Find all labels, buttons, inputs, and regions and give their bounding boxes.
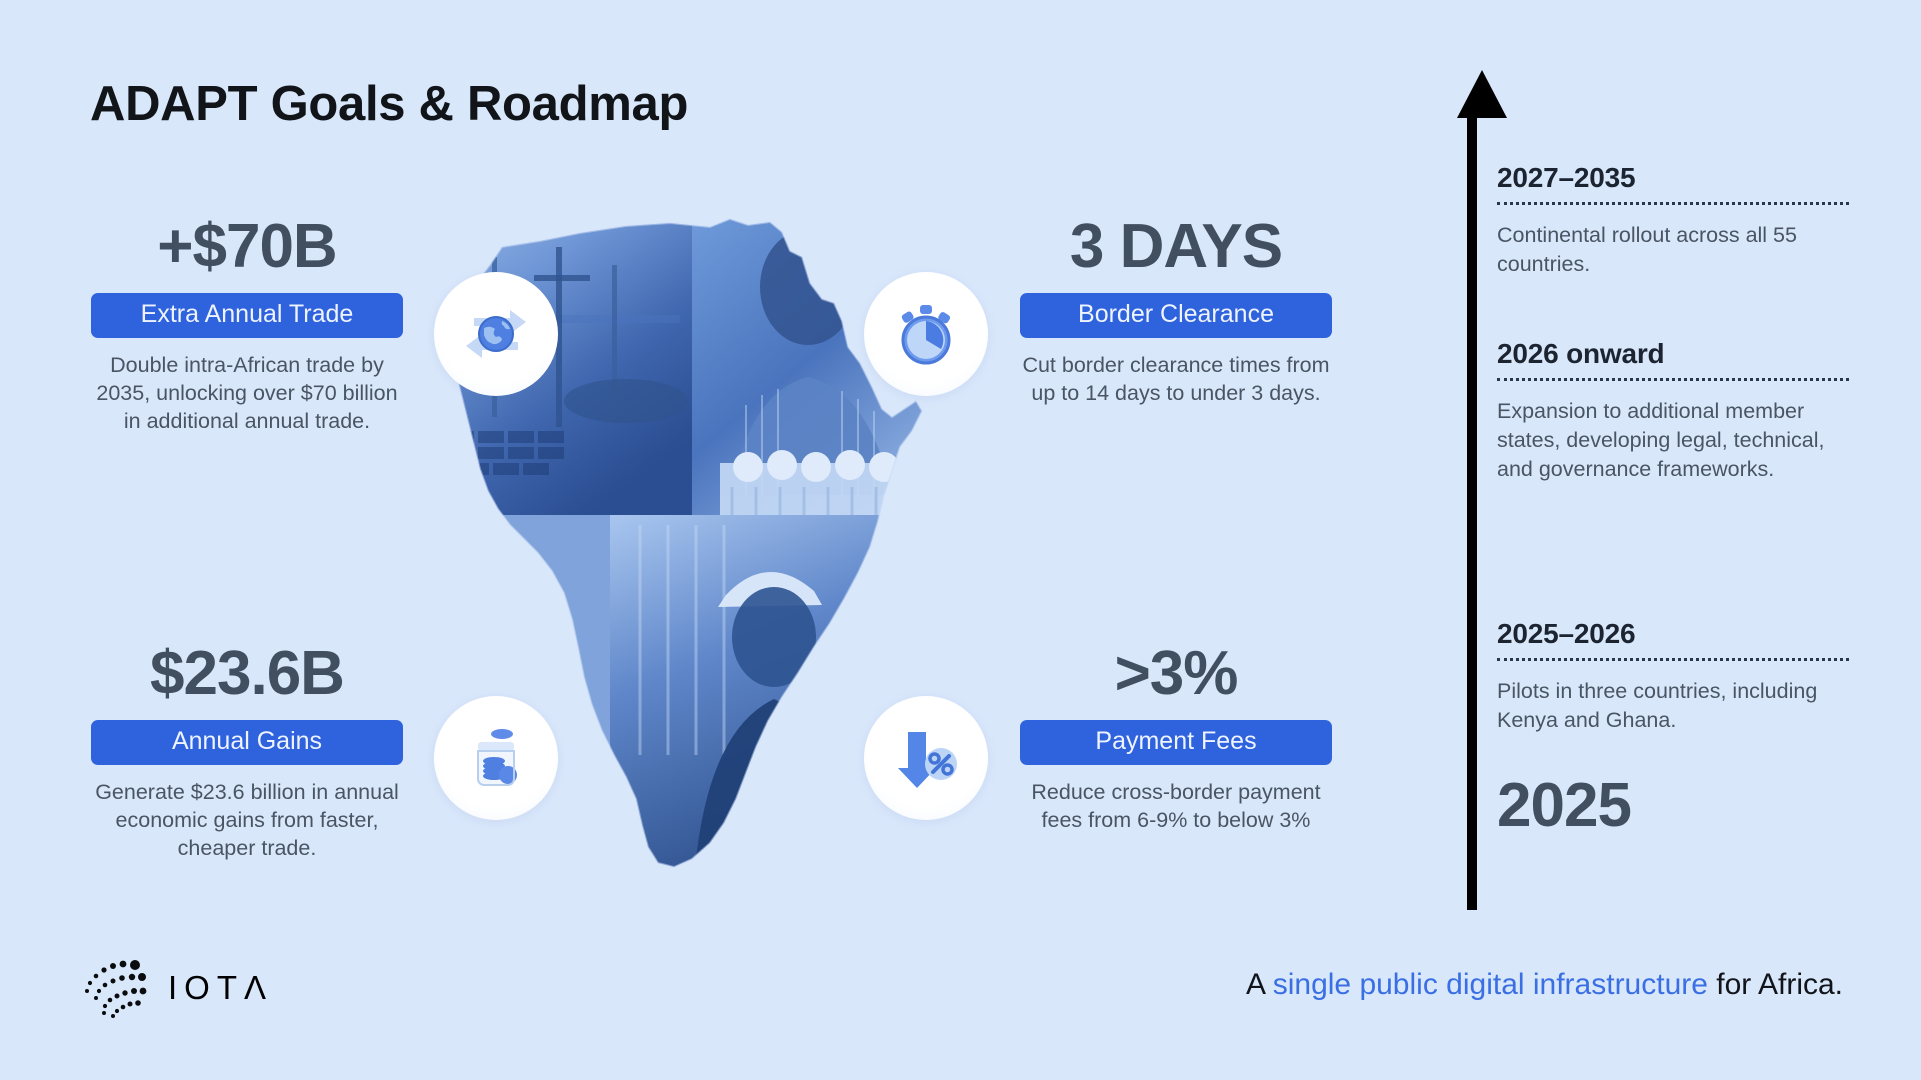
tagline: A single public digital infrastructure f… — [1246, 968, 1843, 1002]
stat-value: $23.6B — [91, 641, 403, 706]
timeline-divider — [1497, 658, 1849, 661]
timeline-text: Pilots in three countries, including Ken… — [1497, 677, 1849, 735]
timeline-item-2025-2026: 2025–2026 Pilots in three countries, inc… — [1497, 618, 1849, 735]
coin-jar-icon — [434, 696, 558, 820]
stat-value: >3% — [1020, 641, 1332, 706]
stat-badge: Payment Fees — [1020, 720, 1332, 765]
stat-border-clearance: 3 DAYS Border Clearance Cut border clear… — [1020, 214, 1332, 407]
timeline-axis — [1467, 110, 1477, 910]
stat-badge: Annual Gains — [91, 720, 403, 765]
stat-annual-gains: $23.6B Annual Gains Generate $23.6 billi… — [91, 641, 403, 863]
roadmap-timeline: 2027–2035 Continental rollout across all… — [1455, 110, 1855, 910]
iota-mark-icon — [80, 955, 152, 1021]
timeline-item-2027-2035: 2027–2035 Continental rollout across all… — [1497, 162, 1849, 279]
stopwatch-icon — [864, 272, 988, 396]
stat-value: 3 DAYS — [1020, 214, 1332, 279]
timeline-arrow-icon — [1457, 70, 1507, 118]
timeline-text: Expansion to additional member states, d… — [1497, 397, 1849, 485]
timeline-text: Continental rollout across all 55 countr… — [1497, 221, 1849, 279]
page-title: ADAPT Goals & Roadmap — [90, 76, 688, 132]
iota-wordmark: IOTΛ — [168, 969, 273, 1007]
timeline-year: 2026 onward — [1497, 338, 1849, 378]
timeline-divider — [1497, 378, 1849, 381]
stat-badge: Extra Annual Trade — [91, 293, 403, 338]
timeline-anchor-year: 2025 — [1497, 770, 1631, 841]
tagline-suffix: for Africa. — [1708, 968, 1843, 1001]
stat-description: Generate $23.6 billion in annual economi… — [91, 778, 403, 863]
percent-down-arrow-icon — [864, 696, 988, 820]
stat-description: Cut border clearance times from up to 14… — [1020, 351, 1332, 408]
stat-description: Double intra-African trade by 2035, unlo… — [91, 351, 403, 436]
iota-logo: IOTΛ — [80, 955, 273, 1021]
globe-exchange-icon — [434, 272, 558, 396]
timeline-item-2026-onward: 2026 onward Expansion to additional memb… — [1497, 338, 1849, 485]
tagline-prefix: A — [1246, 968, 1273, 1001]
stat-badge: Border Clearance — [1020, 293, 1332, 338]
timeline-year: 2025–2026 — [1497, 618, 1849, 658]
stat-value: +$70B — [91, 214, 403, 279]
tagline-highlight: single public digital infrastructure — [1273, 968, 1708, 1001]
stat-extra-annual-trade: +$70B Extra Annual Trade Double intra-Af… — [91, 214, 403, 436]
timeline-year: 2027–2035 — [1497, 162, 1849, 202]
infographic-page: ADAPT Goals & Roadmap — [0, 0, 1921, 1080]
stat-payment-fees: >3% Payment Fees Reduce cross-border pay… — [1020, 641, 1332, 834]
timeline-divider — [1497, 202, 1849, 205]
stat-description: Reduce cross-border payment fees from 6-… — [1020, 778, 1332, 835]
